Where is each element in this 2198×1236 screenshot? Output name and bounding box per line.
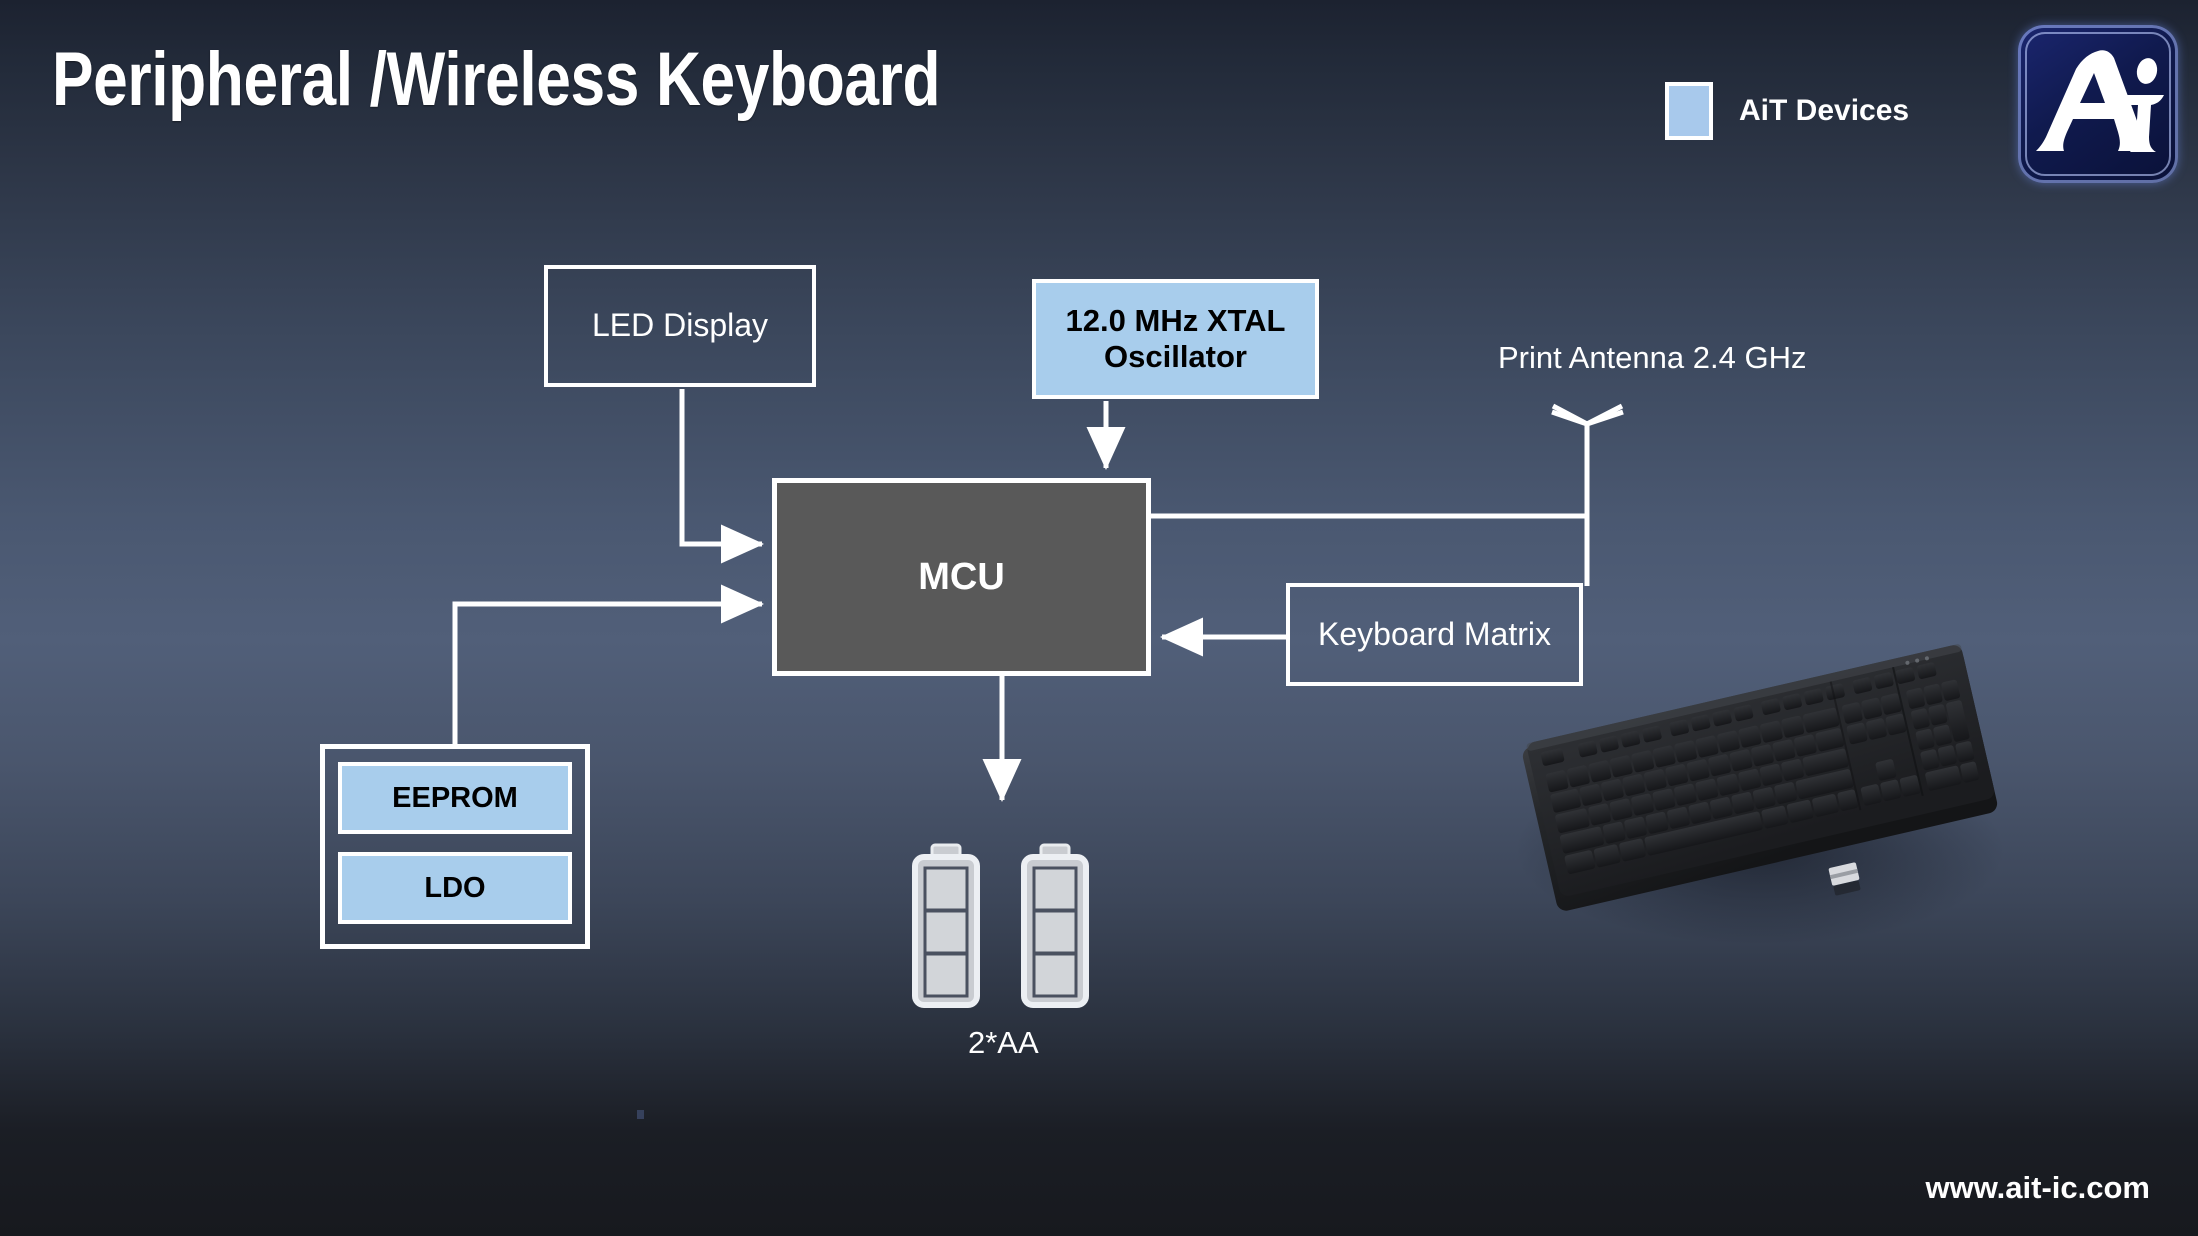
footer-url: www.ait-ic.com xyxy=(1925,1170,2150,1206)
block-led-display[interactable]: LED Display xyxy=(544,265,816,387)
block-eeprom[interactable]: EEPROM xyxy=(338,762,572,834)
block-xtal-oscillator[interactable]: 12.0 MHz XTAL Oscillator xyxy=(1032,279,1319,399)
antenna-arms xyxy=(1552,412,1623,424)
wire-mcu-to-antenna xyxy=(1151,424,1587,516)
legend: AiT Devices xyxy=(1665,82,1909,140)
legend-color-swatch xyxy=(1665,82,1713,140)
block-ldo[interactable]: LDO xyxy=(338,852,572,924)
battery-icon xyxy=(915,845,977,1005)
xtal-label-line-1: 12.0 MHz XTAL xyxy=(1066,303,1286,339)
slide-canvas: Peripheral /Wireless Keyboard AiT Device… xyxy=(0,0,2198,1236)
battery-label: 2*AA xyxy=(968,1025,1039,1061)
wire-power-to-mcu xyxy=(455,604,762,744)
battery-icon xyxy=(1024,845,1086,1005)
background-artifact xyxy=(637,1110,644,1119)
xtal-label-line-2: Oscillator xyxy=(1066,339,1286,375)
wire-led-display-to-mcu xyxy=(682,389,762,544)
logo-inner-border xyxy=(2025,32,2171,176)
antenna-symbol xyxy=(1553,406,1622,586)
block-mcu[interactable]: MCU xyxy=(772,478,1151,676)
battery-pack xyxy=(915,845,1086,1005)
legend-label: AiT Devices xyxy=(1739,94,1909,128)
keyboard-photo xyxy=(1500,600,2020,960)
ait-logo xyxy=(2018,25,2178,183)
page-title: Peripheral /Wireless Keyboard xyxy=(52,36,940,123)
antenna-label: Print Antenna 2.4 GHz xyxy=(1498,340,1806,376)
